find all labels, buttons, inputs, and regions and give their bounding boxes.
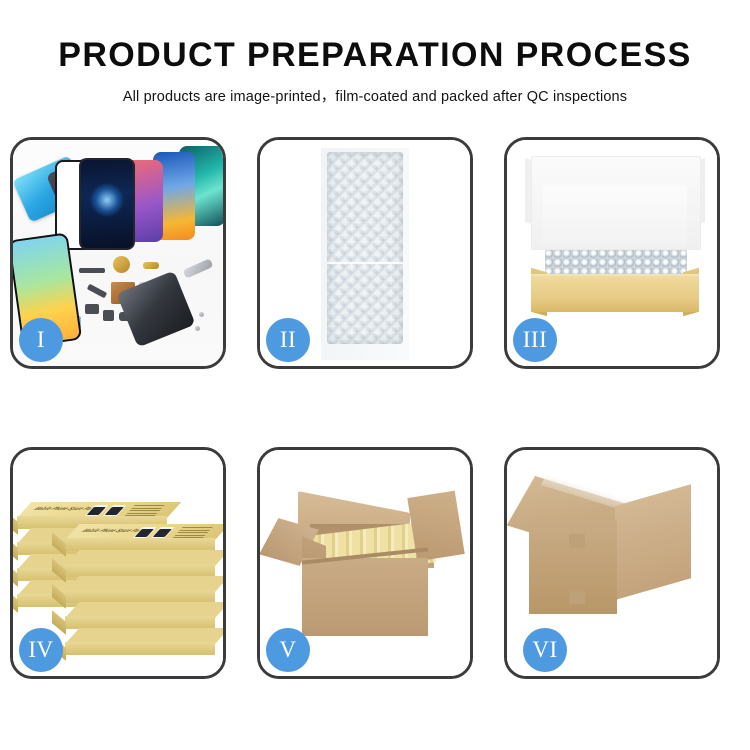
box-side-face — [52, 610, 66, 635]
page-subtitle: All products are image-printed，film-coat… — [0, 74, 750, 106]
stacked-box — [65, 576, 215, 602]
header: PRODUCT PREPARATION PROCESS All products… — [0, 0, 750, 106]
step-badge-5: V — [266, 628, 310, 672]
spare-part-graphic — [85, 304, 99, 314]
bubble-layer-graphic — [327, 152, 403, 344]
step-badge-6: VI — [523, 628, 567, 672]
spare-part-graphic — [87, 284, 107, 299]
step-badge-1: I — [19, 318, 63, 362]
step-panel-1: I — [10, 137, 226, 369]
box-front-face — [65, 642, 215, 655]
wrap-seam-graphic — [327, 262, 403, 264]
spare-part-graphic — [103, 310, 114, 321]
tweezers-graphic — [182, 258, 213, 278]
step-panel-4: Mobile Phone Spare Parts — [10, 447, 226, 679]
stacked-box: Mobile Phone Spare Parts — [65, 524, 215, 550]
box-side-face — [13, 588, 18, 613]
black-screen-graphic — [79, 158, 135, 250]
step-badge-3: III — [513, 318, 557, 362]
step-panel-2: II — [257, 137, 473, 369]
step-panel-6: VI — [504, 447, 720, 679]
step-badge-2: II — [266, 318, 310, 362]
stacked-box — [65, 628, 215, 654]
spare-part-graphic — [199, 312, 204, 317]
stacked-box — [65, 550, 215, 576]
spare-part-graphic — [143, 262, 159, 269]
steps-row-2: Mobile Phone Spare Parts — [10, 447, 740, 679]
spare-part-graphic — [79, 268, 105, 273]
carton-front-graphic — [302, 558, 428, 636]
carton-tab-graphic — [569, 534, 585, 548]
step-panel-5: V — [257, 447, 473, 679]
spare-part-graphic — [113, 256, 130, 273]
steps-row-1: I II — [10, 137, 740, 369]
carton-tab-graphic — [569, 590, 585, 604]
step-badge-4: IV — [19, 628, 63, 672]
page-title: PRODUCT PREPARATION PROCESS — [0, 0, 750, 74]
stacked-box — [65, 602, 215, 628]
foam-pad-graphic — [543, 186, 687, 248]
spare-part-graphic — [195, 326, 200, 331]
product-preparation-infographic: PRODUCT PREPARATION PROCESS All products… — [0, 0, 750, 750]
box-front-graphic — [531, 278, 699, 312]
steps-grid: I II — [10, 137, 740, 679]
carton-right-graphic — [615, 484, 691, 600]
step-panel-3: III — [504, 137, 720, 369]
